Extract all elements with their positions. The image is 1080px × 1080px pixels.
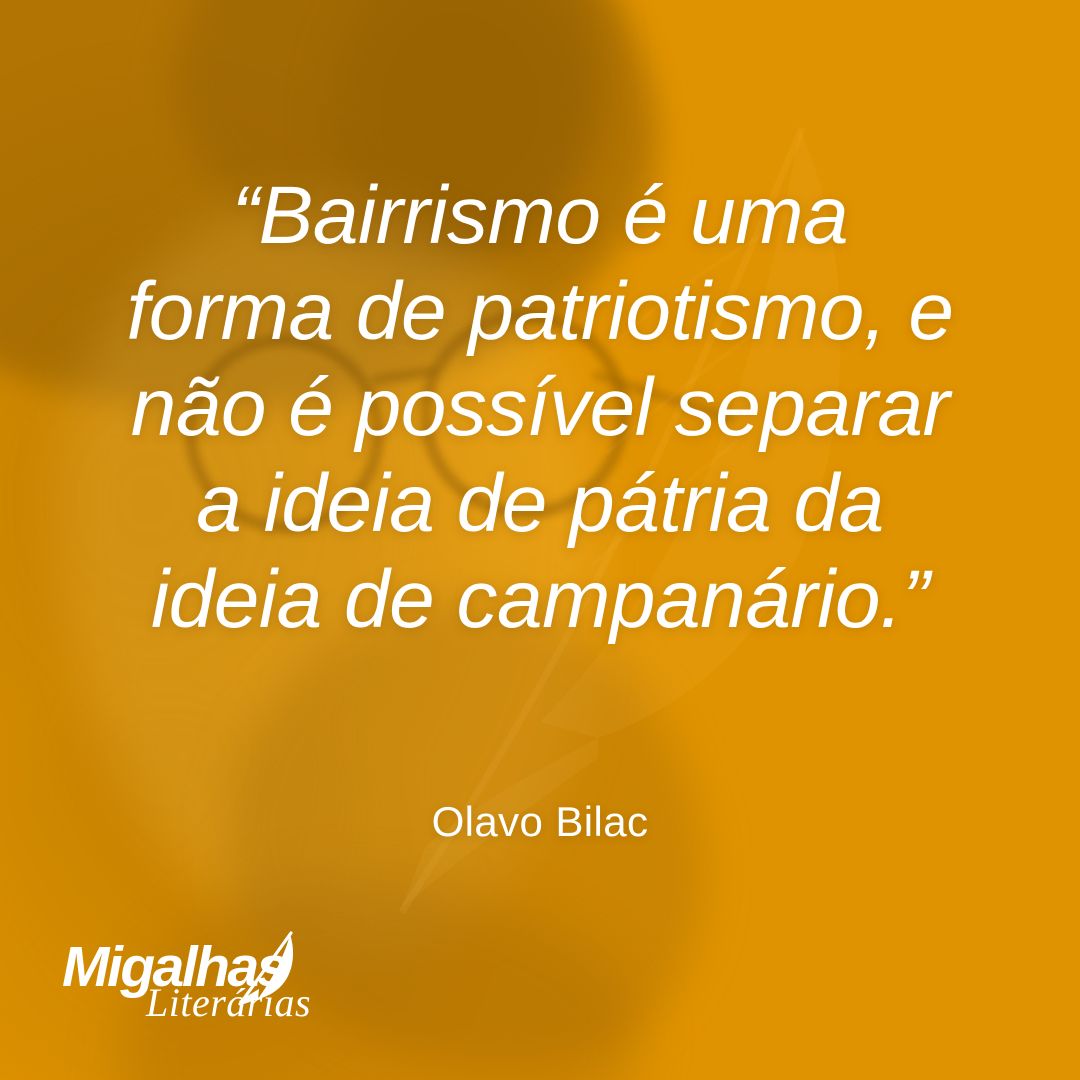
quote-card: “Bairrismo é uma forma de patriotismo, e…: [0, 0, 1080, 1080]
brand-logo-subtitle: Literárias: [146, 983, 311, 1023]
quote-author: Olavo Bilac: [0, 798, 1080, 846]
quote-text: “Bairrismo é uma forma de patriotismo, e…: [70, 168, 1010, 648]
brand-logo[interactable]: Migalhas Literárias: [62, 925, 312, 1035]
